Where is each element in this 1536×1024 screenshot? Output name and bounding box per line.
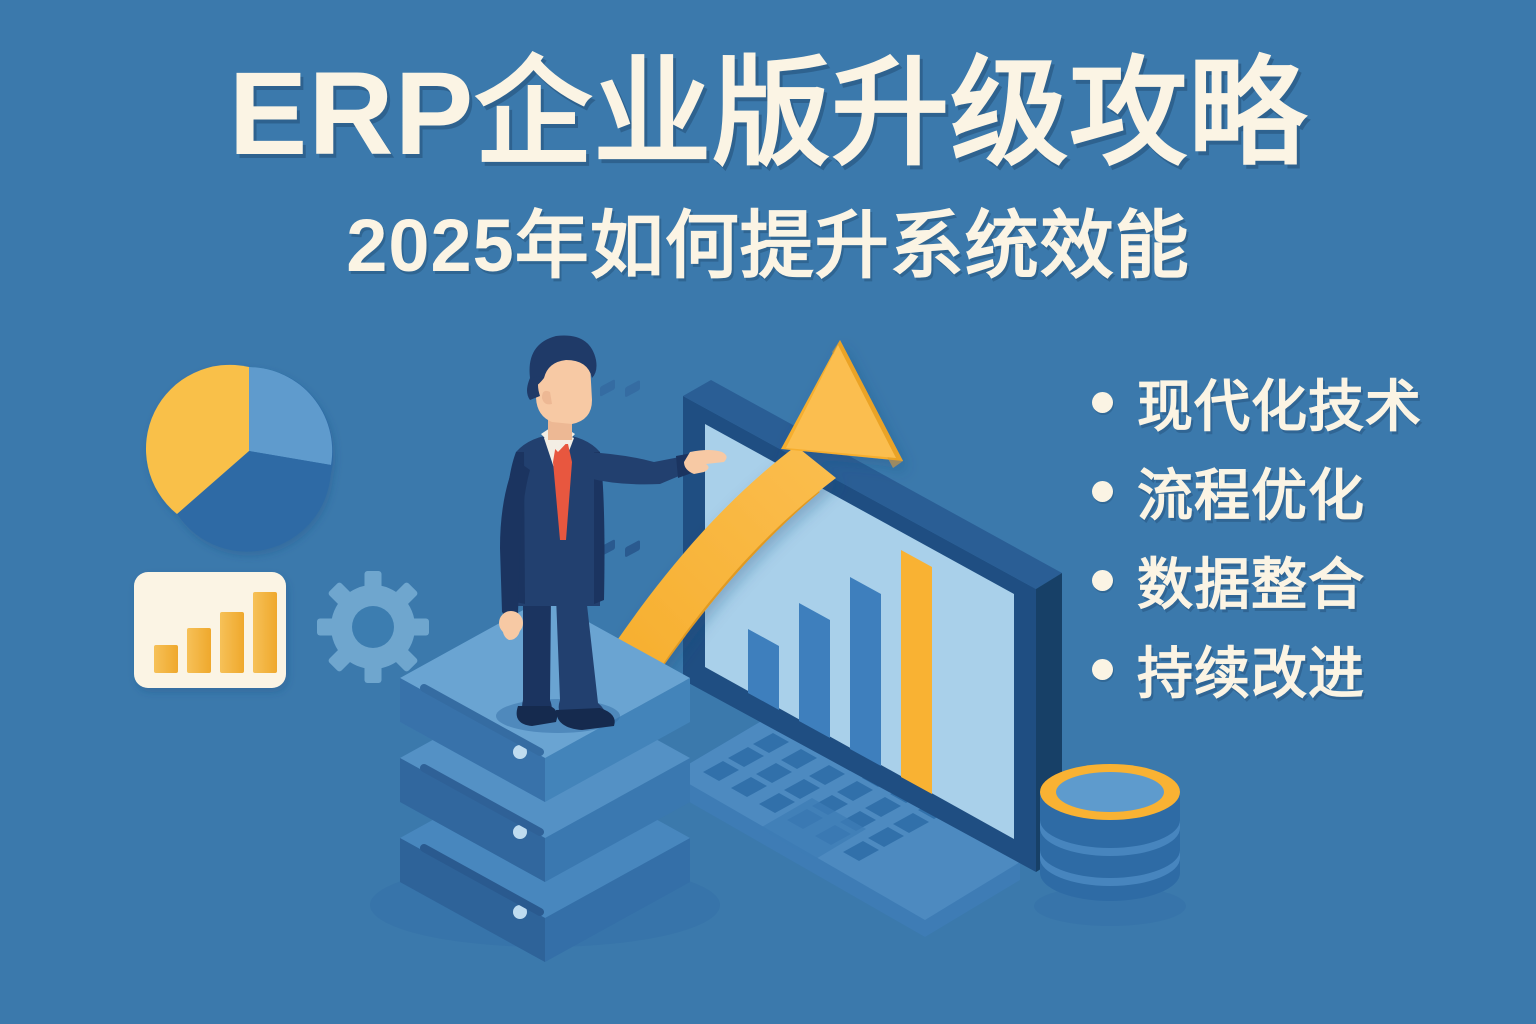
list-item: 持续改进	[1092, 625, 1502, 714]
bullet-dot-icon	[1092, 481, 1113, 502]
poster-canvas: ERP企业版升级攻略 2025年如何提升系统效能 现代化技术 流程优化 数据整合…	[0, 0, 1536, 1024]
page-subtitle: 2025年如何提升系统效能	[0, 205, 1536, 286]
gear-icon	[317, 571, 429, 683]
list-item: 数据整合	[1092, 536, 1502, 625]
page-title: ERP企业版升级攻略	[0, 52, 1536, 177]
bullet-dot-icon	[1092, 570, 1113, 591]
bullet-label: 现代化技术	[1137, 362, 1422, 443]
pie-chart-icon	[146, 365, 333, 552]
database-cylinder-icon	[1034, 764, 1186, 926]
bullet-label: 持续改进	[1137, 629, 1365, 710]
bullet-dot-icon	[1092, 392, 1113, 413]
laptop-device	[672, 380, 1062, 937]
list-item: 流程优化	[1092, 447, 1502, 536]
list-item: 现代化技术	[1092, 358, 1502, 447]
bar-chart-card-icon	[134, 572, 286, 688]
bullet-label: 数据整合	[1137, 540, 1365, 621]
feature-bullet-list: 现代化技术 流程优化 数据整合 持续改进	[1092, 358, 1502, 714]
bullet-dot-icon	[1092, 659, 1113, 680]
bullet-label: 流程优化	[1137, 451, 1365, 532]
